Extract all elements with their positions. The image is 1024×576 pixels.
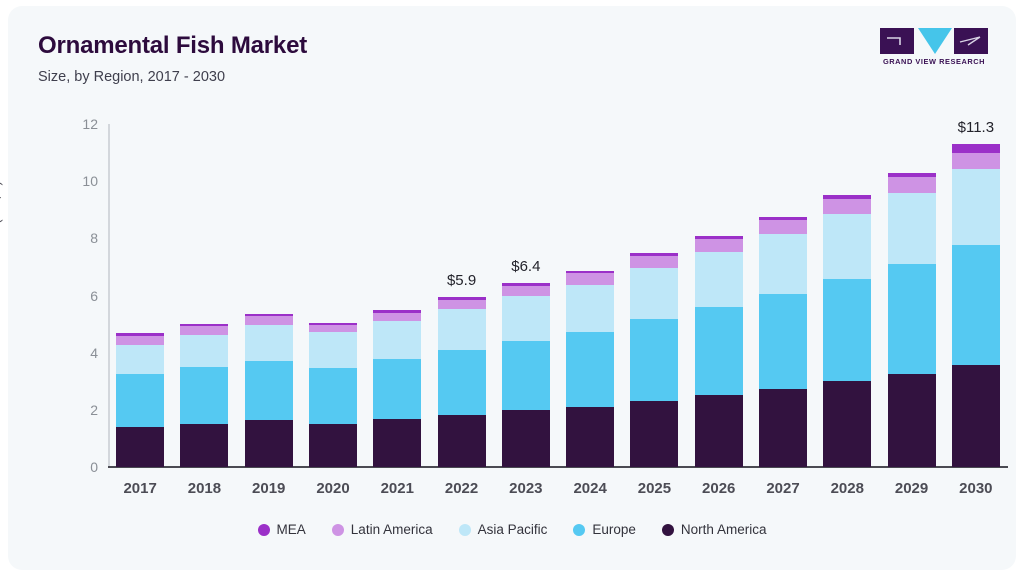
bar-segment-latin-america[interactable] [438,300,486,309]
bar-stack[interactable] [245,314,293,467]
bar-stack[interactable] [309,323,357,467]
bar-segment-europe[interactable] [502,341,550,410]
bar-stack[interactable] [888,173,936,467]
logo-shapes [880,28,988,54]
bar-value-label: $5.9 [447,272,476,289]
bar-segment-latin-america[interactable] [630,256,678,268]
bar-segment-north-america[interactable] [438,415,486,467]
bar-stack[interactable]: $5.9 [438,297,486,467]
legend-label: MEA [277,522,306,537]
bar-stack[interactable] [566,271,614,467]
bar-segment-asia-pacific[interactable] [823,214,871,279]
legend-item-asia-pacific[interactable]: Asia Pacific [459,522,548,537]
y-axis-tick-label: 0 [54,459,98,475]
x-axis-tick-label: 2027 [766,480,799,497]
bar-segment-europe[interactable] [952,245,1000,365]
bar-segment-north-america[interactable] [180,424,228,467]
bar-segment-north-america[interactable] [695,395,743,467]
x-axis-tick-label: 2029 [895,480,928,497]
bar-segment-europe[interactable] [180,367,228,423]
legend-swatch-icon [459,524,471,536]
bar-segment-asia-pacific[interactable] [116,345,164,374]
x-axis-tick-label: 2018 [188,480,221,497]
bar-segment-europe[interactable] [759,294,807,388]
x-axis-tick-label: 2025 [638,480,671,497]
bar-segment-europe[interactable] [566,332,614,407]
legend-label: Latin America [351,522,433,537]
x-axis-tick-label: 2028 [831,480,864,497]
bar-segment-latin-america[interactable] [116,336,164,345]
bar-segment-latin-america[interactable] [309,325,357,332]
bar-segment-north-america[interactable] [952,365,1000,467]
bar-segment-latin-america[interactable] [373,313,421,321]
chart-card: Ornamental Fish Market Size, by Region, … [8,6,1016,570]
bar-stack[interactable] [180,324,228,467]
bar-segment-latin-america[interactable] [888,177,936,194]
bar-segment-north-america[interactable] [245,420,293,467]
bar-segment-asia-pacific[interactable] [566,285,614,332]
plot-area: $5.9$6.4$11.3 [108,124,1008,467]
bar-value-label: $6.4 [511,258,540,275]
logo-right-square-icon [954,28,988,54]
bar-segment-north-america[interactable] [566,407,614,467]
legend-item-north-america[interactable]: North America [662,522,767,537]
bar-segment-europe[interactable] [245,361,293,420]
legend-item-europe[interactable]: Europe [573,522,636,537]
bar-segment-north-america[interactable] [630,401,678,467]
legend-swatch-icon [332,524,344,536]
y-axis-tick-label: 12 [54,116,98,132]
legend-item-latin-america[interactable]: Latin America [332,522,433,537]
y-axis-tick-label: 4 [54,345,98,361]
bar-segment-latin-america[interactable] [695,239,743,252]
legend-label: North America [681,522,767,537]
bar-segment-asia-pacific[interactable] [888,193,936,264]
bar-segment-asia-pacific[interactable] [245,325,293,361]
bar-value-label: $11.3 [958,119,994,136]
bar-segment-asia-pacific[interactable] [952,169,1000,245]
x-axis-tick-label: 2030 [959,480,992,497]
bar-segment-asia-pacific[interactable] [502,296,550,341]
bar-segment-asia-pacific[interactable] [180,335,228,368]
x-axis-tick-label: 2020 [316,480,349,497]
x-axis-tick-label: 2019 [252,480,285,497]
bar-segment-latin-america[interactable] [759,220,807,234]
bar-segment-europe[interactable] [888,264,936,374]
y-axis-title: Market Size (US$B) [0,181,3,296]
bar-segment-europe[interactable] [309,368,357,424]
logo-left-mark-icon [880,28,914,54]
logo-right-mark-icon [954,28,988,54]
bar-segment-asia-pacific[interactable] [309,332,357,368]
bar-segment-asia-pacific[interactable] [630,268,678,319]
bar-stack[interactable] [116,333,164,467]
legend-item-mea[interactable]: MEA [258,522,306,537]
logo-text: GRAND VIEW RESEARCH [880,57,988,66]
bar-stack[interactable] [630,253,678,467]
bar-stack[interactable] [695,236,743,467]
bar-segment-north-america[interactable] [116,427,164,467]
bar-segment-europe[interactable] [823,279,871,381]
bar-segment-europe[interactable] [438,350,486,415]
y-axis-tick-label: 2 [54,402,98,418]
legend-swatch-icon [258,524,270,536]
y-axis-tick-label: 8 [54,230,98,246]
bar-segment-asia-pacific[interactable] [438,309,486,350]
bar-segment-asia-pacific[interactable] [373,321,421,359]
bar-segment-mea[interactable] [952,144,1000,153]
bar-segment-europe[interactable] [373,359,421,420]
bar-segment-europe[interactable] [116,374,164,427]
legend-label: Europe [592,522,636,537]
bar-segment-north-america[interactable] [759,389,807,467]
bar-segment-latin-america[interactable] [502,286,550,296]
bar-stack[interactable]: $11.3 [952,144,1000,467]
y-axis-tick-label: 10 [54,173,98,189]
x-axis-tick-label: 2023 [509,480,542,497]
bar-segment-europe[interactable] [630,319,678,400]
page-title: Ornamental Fish Market [38,32,307,60]
logo-left-square-icon [880,28,914,54]
bar-segment-north-america[interactable] [823,381,871,467]
bar-segment-north-america[interactable] [502,410,550,467]
bar-segment-asia-pacific[interactable] [759,234,807,294]
chart-legend: MEALatin AmericaAsia PacificEuropeNorth … [8,522,1016,537]
bar-segment-north-america[interactable] [309,424,357,467]
bar-stack[interactable] [759,217,807,467]
bar-stack[interactable]: $6.4 [502,283,550,467]
grand-view-research-logo: GRAND VIEW RESEARCH [880,28,988,70]
legend-swatch-icon [662,524,674,536]
y-axis-tick-label: 6 [54,288,98,304]
x-axis-tick-label: 2022 [445,480,478,497]
bar-segment-latin-america[interactable] [566,273,614,284]
x-axis-tick-label: 2024 [573,480,606,497]
legend-swatch-icon [573,524,585,536]
bar-segment-north-america[interactable] [373,419,421,467]
x-axis-tick-label: 2017 [123,480,156,497]
bar-segment-asia-pacific[interactable] [695,252,743,307]
bar-segment-latin-america[interactable] [180,326,228,335]
page-subtitle: Size, by Region, 2017 - 2030 [38,69,225,85]
bar-segment-north-america[interactable] [888,374,936,467]
bar-segment-europe[interactable] [695,307,743,394]
bar-segment-latin-america[interactable] [823,199,871,214]
bar-stack[interactable] [373,310,421,467]
bar-segment-latin-america[interactable] [952,153,1000,169]
logo-triangle-icon [918,28,952,54]
x-axis-tick-label: 2026 [702,480,735,497]
legend-label: Asia Pacific [478,522,548,537]
bar-stack[interactable] [823,195,871,467]
x-axis-tick-label: 2021 [381,480,414,497]
bar-segment-latin-america[interactable] [245,316,293,325]
